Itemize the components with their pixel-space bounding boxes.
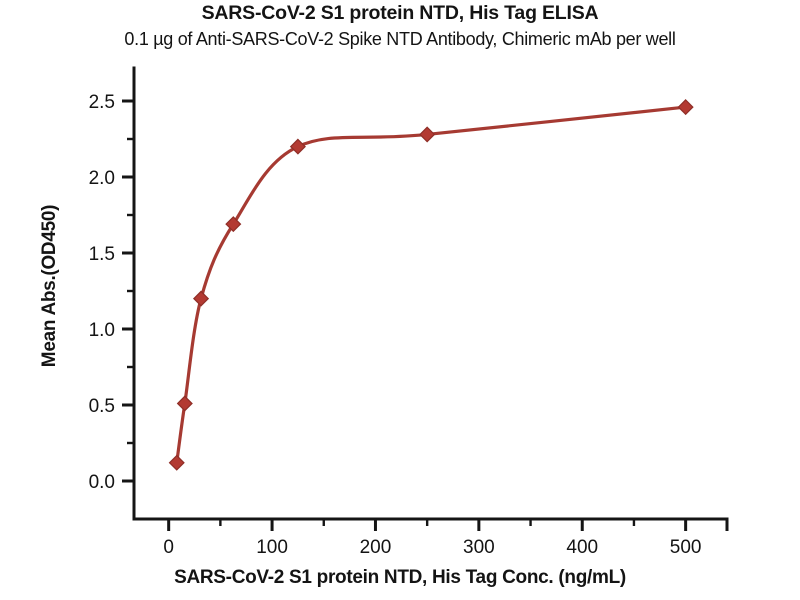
y-tick-label: 1.5 [89,244,115,265]
y-tick-label: 2.0 [89,168,115,189]
chart-figure: SARS-CoV-2 S1 protein NTD, His Tag ELISA… [0,0,800,600]
data-point-marker [420,127,434,141]
x-axis: 0100200300400500 [134,519,727,558]
y-tick-label: 0.0 [89,472,115,493]
data-point-marker [226,217,240,231]
data-point-marker [170,456,184,470]
data-point-marker [678,100,692,114]
y-tick-label: 0.5 [89,396,115,417]
data-point-marker [291,139,305,153]
y-axis: 0.00.51.01.52.02.5 [89,68,134,519]
y-tick-label: 2.5 [89,92,115,113]
data-point-marker [194,291,208,305]
x-tick-label: 400 [566,537,598,558]
fit-curve [177,107,686,463]
plot-area: 0.00.51.01.52.02.5 0100200300400500 [0,0,800,600]
x-tick-label: 200 [360,537,392,558]
x-tick-label: 0 [163,537,174,558]
data-point-marker [178,396,192,410]
x-tick-label: 100 [256,537,288,558]
x-tick-label: 300 [463,537,495,558]
x-tick-label: 500 [670,537,702,558]
y-tick-label: 1.0 [89,320,115,341]
data-series [170,100,693,470]
